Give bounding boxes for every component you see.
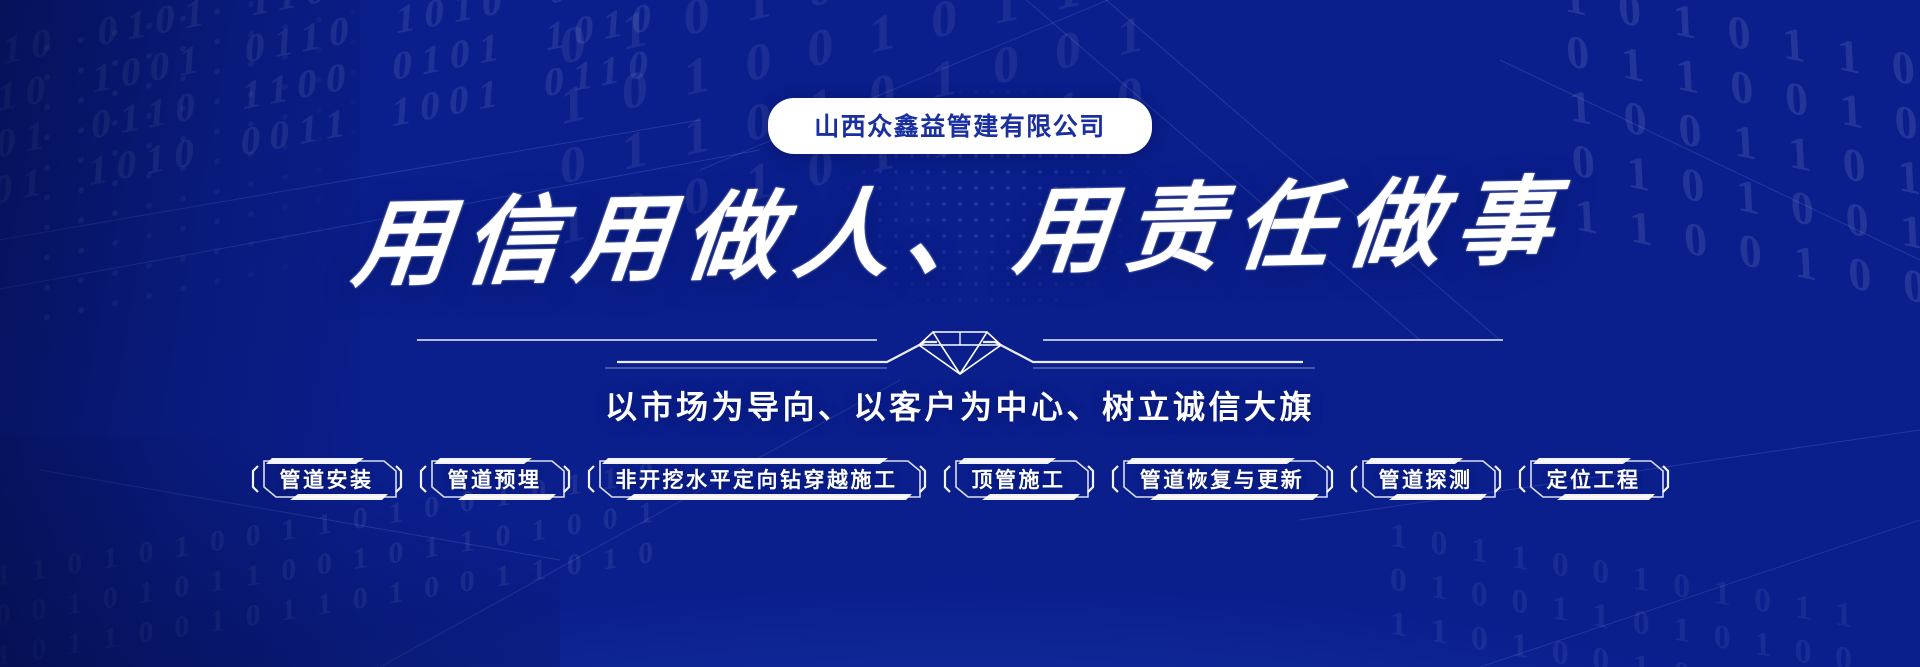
- service-tag-label: 非开挖水平定向钻穿越施工: [586, 464, 928, 494]
- subtitle-slogan: 以市场为导向、以客户为中心、树立诚信大旗: [605, 382, 1315, 428]
- service-tag-chip[interactable]: 管道预埋: [418, 458, 572, 500]
- service-tag-label: 顶管施工: [942, 464, 1096, 494]
- divider-graphic: [417, 318, 1503, 376]
- service-tag-label: 定位工程: [1517, 464, 1671, 494]
- banner-content: 山西众鑫益管建有限公司 用信用做人、用责任做事: [0, 0, 1920, 667]
- diamond-gem-icon: [919, 332, 1001, 374]
- company-name-pill: 山西众鑫益管建有限公司: [768, 98, 1152, 154]
- service-tag-chip[interactable]: 管道恢复与更新: [1110, 458, 1335, 500]
- service-tag-label: 管道安装: [250, 464, 404, 494]
- headline-slogan: 用信用做人、用责任做事: [348, 168, 1572, 299]
- service-tag-label: 管道预埋: [418, 464, 572, 494]
- service-tag-label: 管道探测: [1349, 464, 1503, 494]
- service-tag-chip[interactable]: 定位工程: [1517, 458, 1671, 500]
- service-tag-chip[interactable]: 管道探测: [1349, 458, 1503, 500]
- divider-with-gem: [417, 318, 1503, 376]
- service-tag-chip[interactable]: 顶管施工: [942, 458, 1096, 500]
- service-tag-list: 管道安装 管道预埋 非开挖水平定向钻穿越施工: [250, 458, 1671, 500]
- hero-banner: 1010 0101 1101 0010 1011 0110 1001 0110 …: [0, 0, 1920, 667]
- service-tag-chip[interactable]: 管道安装: [250, 458, 404, 500]
- service-tag-chip[interactable]: 非开挖水平定向钻穿越施工: [586, 458, 928, 500]
- service-tag-label: 管道恢复与更新: [1110, 464, 1335, 494]
